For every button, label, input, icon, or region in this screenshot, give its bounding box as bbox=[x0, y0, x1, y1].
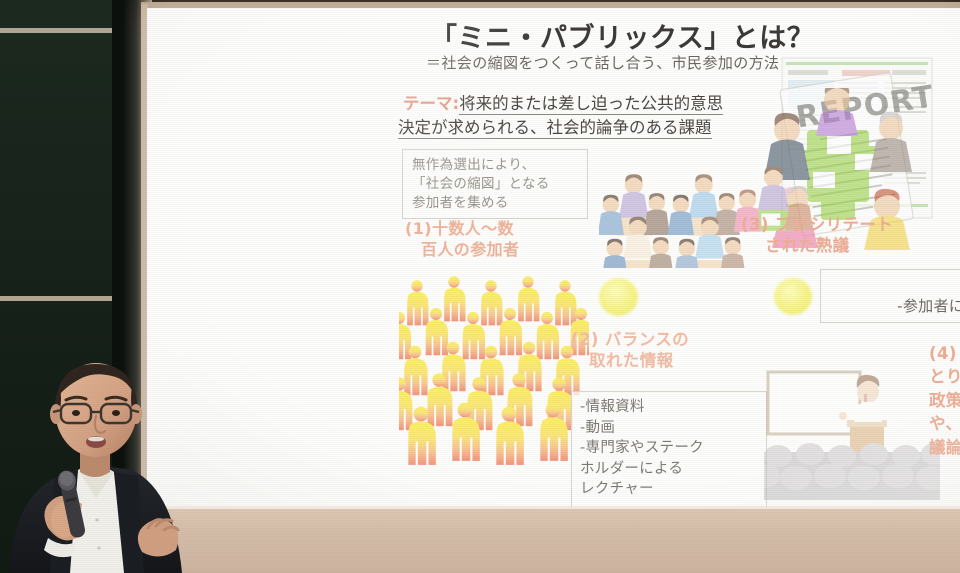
policy-output-box: -政策提言 -参加者による投票結果など bbox=[820, 269, 960, 323]
step-1-line-1: (1)十数人〜数 bbox=[405, 219, 565, 240]
yellow-dot-right bbox=[774, 278, 812, 315]
balanced-information-box: -情報資料 -動画 -専門家やステーク ホルダーによる レクチャー bbox=[571, 391, 767, 510]
theme-key-label: テーマ: bbox=[403, 94, 459, 113]
speaker-photo bbox=[0, 352, 242, 573]
step-3-line-1: (3) ファシリテート bbox=[741, 214, 921, 235]
info-line-2: -動画 bbox=[580, 418, 758, 439]
step-4-line-2: とりまとめ bbox=[929, 365, 960, 388]
step-3-line-2: された熟議 bbox=[741, 235, 850, 256]
policy-line-1: -政策提言 bbox=[821, 274, 960, 296]
crowd-of-participants-illustration bbox=[399, 276, 589, 472]
info-line-1: -情報資料 bbox=[580, 397, 758, 418]
step-3-label: (3) ファシリテート された熟議 bbox=[741, 214, 921, 257]
chalkboard-rail-bottom bbox=[0, 296, 114, 301]
step-4-line-6: かす bbox=[929, 459, 960, 482]
chalkboard-rail-top bbox=[0, 28, 114, 33]
policy-line-2: -参加者による投票結果など bbox=[821, 296, 960, 318]
info-line-3: -専門家やステーク bbox=[580, 438, 758, 459]
random-selection-line-2: 「社会の縮図」となる bbox=[412, 175, 578, 194]
step-2-label: (2) バランスの 取れた情報 bbox=[571, 329, 741, 372]
step-4-line-4: や、更なる bbox=[929, 412, 960, 435]
slide-subtitle: ＝社会の縮図をつくって話し合う、市民参加の方法 bbox=[426, 52, 906, 73]
step-2-line-1: (2) バランスの bbox=[571, 329, 741, 350]
screenshot-canvas: REPORT bbox=[0, 0, 960, 573]
random-selection-box: 無作為選出により、 「社会の縮図」となる 参加者を集める bbox=[402, 149, 588, 219]
step-4-line-5: 議論に生 bbox=[929, 436, 960, 459]
slide-title: 「ミニ・パブリックス」とは？ bbox=[430, 16, 850, 55]
step-4-label: (4) 結果を とりまとめ 政策決定 や、更なる 議論に生 かす bbox=[929, 342, 960, 483]
step-1-line-2: 百人の参加者 bbox=[405, 240, 565, 261]
lower-wall bbox=[124, 509, 960, 573]
random-selection-line-1: 無作為選出により、 bbox=[412, 156, 578, 175]
step-4-line-3: 政策決定 bbox=[929, 389, 960, 412]
slide-content: REPORT bbox=[147, 8, 960, 509]
projection-screen: REPORT bbox=[147, 8, 960, 509]
random-selection-line-3: 参加者を集める bbox=[412, 194, 578, 213]
yellow-dot-left bbox=[599, 278, 638, 316]
step-1-label: (1)十数人〜数 百人の参加者 bbox=[405, 219, 565, 261]
step-4-line-1: (4) 結果を bbox=[929, 342, 960, 365]
step-2-line-2: 取れた情報 bbox=[571, 350, 674, 371]
info-line-5: レクチャー bbox=[580, 479, 758, 500]
info-line-4: ホルダーによる bbox=[580, 459, 758, 480]
lecture-illustration bbox=[764, 366, 940, 502]
